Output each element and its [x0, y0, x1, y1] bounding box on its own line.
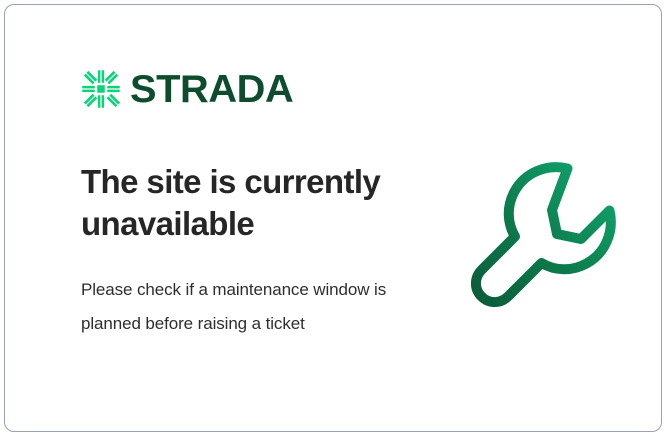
error-page: STRADA The site is currently unavailable… [0, 0, 666, 436]
brand-lockup: STRADA [81, 65, 451, 113]
wrench-icon [460, 157, 616, 313]
strada-asterisk-icon [81, 69, 121, 109]
page-description: Please check if a maintenance window is … [81, 245, 401, 339]
page-title: The site is currently unavailable [81, 113, 421, 245]
content-column: STRADA The site is currently unavailable… [81, 65, 451, 340]
wrench-illustration [460, 157, 616, 313]
status-card: STRADA The site is currently unavailable… [4, 4, 662, 432]
brand-wordmark: STRADA [130, 70, 293, 109]
